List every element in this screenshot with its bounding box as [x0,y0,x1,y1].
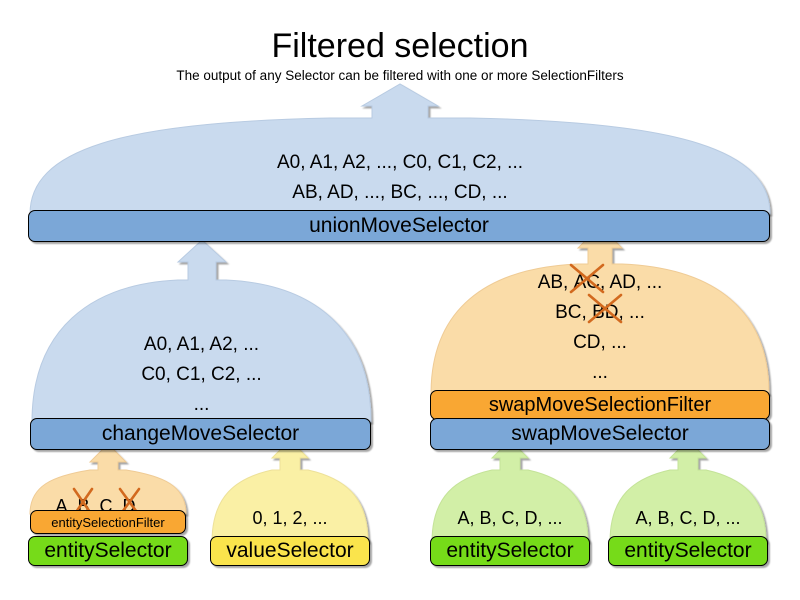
swap-output-line-3: CD, ... [431,328,769,358]
entity-selector-swap-right-bar[interactable]: entitySelector [608,536,768,566]
union-output-line-1: A0, A1, A2, ..., C0, C1, C2, ... [130,148,670,178]
value-selector-bar[interactable]: valueSelector [210,536,370,566]
entity-swap-left-output-text: A, B, C, D, ... [432,504,588,532]
union-move-selector-bar[interactable]: unionMoveSelector [28,210,770,242]
entity-swap-right-output-text: A, B, C, D, ... [610,504,766,532]
plain-text-run: BC, [555,302,592,323]
entity-selector-swap-left-bar[interactable]: entitySelector [430,536,590,566]
union-output-line-2: AB, AD, ..., BC, ..., CD, ... [130,178,670,208]
change-output-line-3: ... [32,390,371,420]
swap-move-selector-bar[interactable]: swapMoveSelector [430,418,770,450]
entity-selector-filtered-bar[interactable]: entitySelector [28,536,188,566]
change-output-text: A0, A1, A2, ... C0, C1, C2, ... ... [32,330,371,420]
swap-output-line-1: AB, AC, AD, ... [431,268,769,298]
struck-out-label: BD [592,302,618,323]
change-output-line-1: A0, A1, A2, ... [32,330,371,360]
plain-text-run: , AD, ... [600,272,662,293]
swap-output-line-4: ... [431,358,769,388]
union-output-text: A0, A1, A2, ..., C0, C1, C2, ... AB, AD,… [130,148,670,208]
struck-out-item: AC [574,268,600,298]
plain-text-run: CD, ... [573,332,627,353]
plain-text-run: AB, [538,272,574,293]
change-output-line-2: C0, C1, C2, ... [32,360,371,390]
diagram-canvas: Filtered selection The output of any Sel… [0,0,800,600]
swap-move-selection-filter-bar[interactable]: swapMoveSelectionFilter [430,390,770,420]
change-move-selector-bar[interactable]: changeMoveSelector [30,418,371,450]
plain-text-run: , ... [618,302,644,323]
entity-selection-filter-bar[interactable]: entitySelectionFilter [30,510,186,534]
value-output-text: 0, 1, 2, ... [212,504,368,532]
struck-out-label: AC [574,272,600,293]
struck-out-item: BD [592,298,618,328]
swap-output-line-2: BC, BD, ... [431,298,769,328]
plain-text-run: ... [592,362,608,383]
swap-output-text: AB, AC, AD, ...BC, BD, ...CD, ...... [431,268,769,388]
